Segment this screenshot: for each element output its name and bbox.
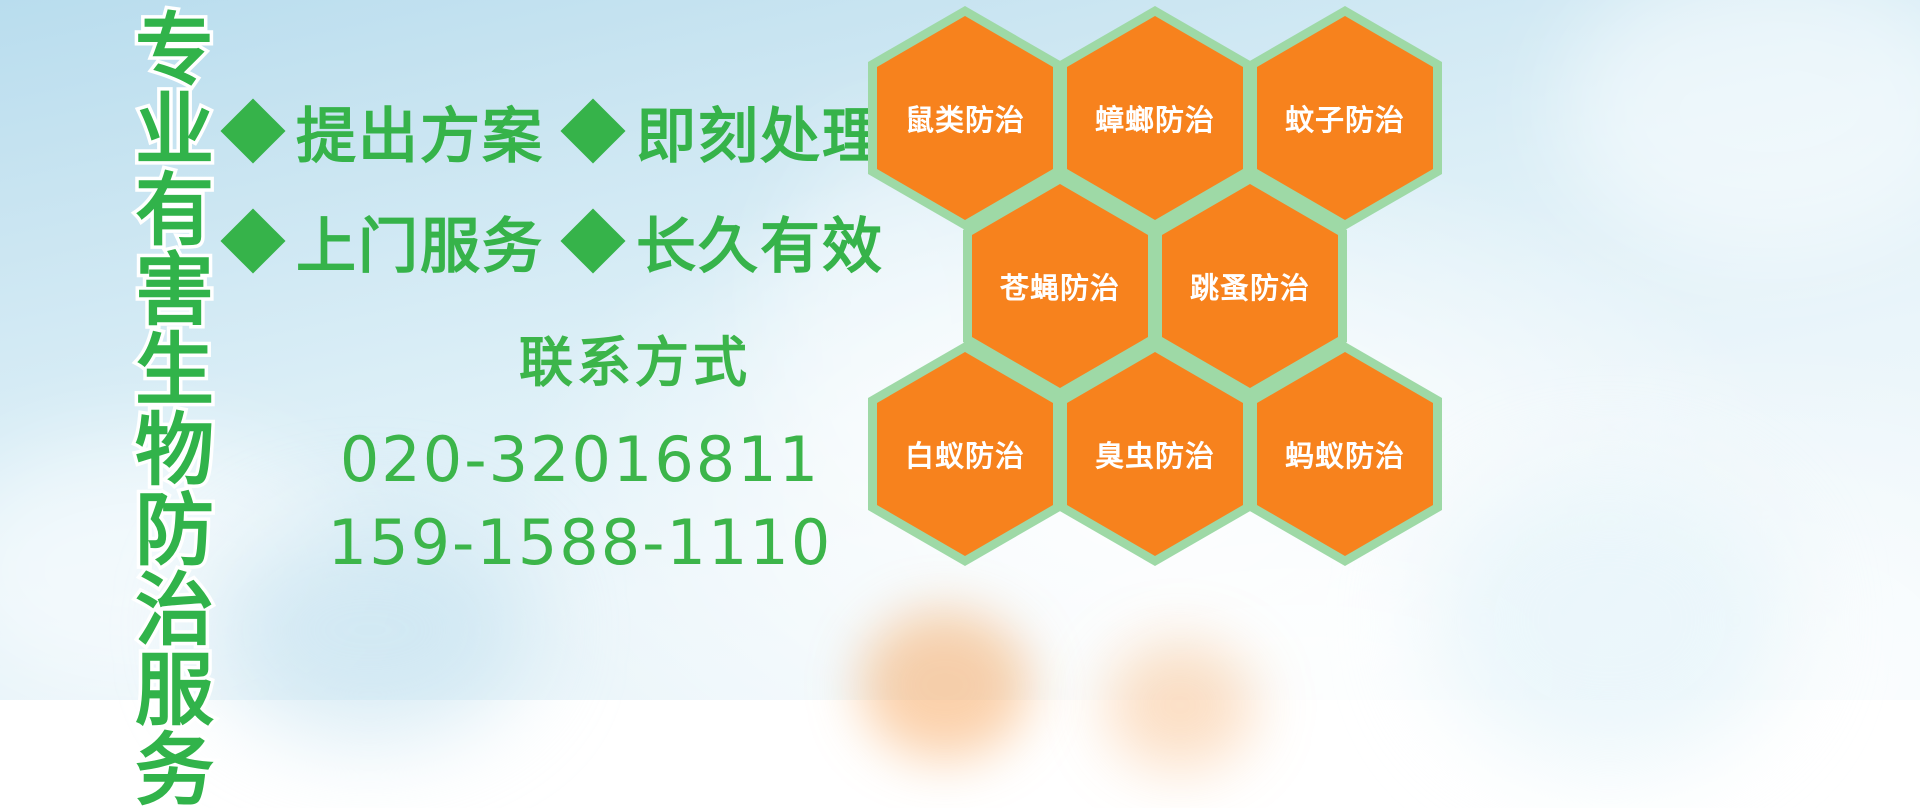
- feature-label-long-lasting: 长久有效: [636, 198, 884, 285]
- background-orange-glow: [860, 610, 1030, 760]
- service-label: 跳蚤防治: [1190, 265, 1310, 307]
- diamond-icon: [560, 208, 625, 273]
- service-label: 蚂蚁防治: [1285, 433, 1405, 475]
- phone-landline[interactable]: 020-32016811: [320, 423, 840, 496]
- pest-control-banner: 专业有害生物防治服务 提出方案 即刻处理 上门服务 长久有效 联系方式 020-…: [0, 0, 1920, 700]
- service-hexagon-grid: 鼠类防治 蟑螂防治 蚊子防治 苍蝇防治 跳蚤防治 白蚁防治 臭虫防治 蚂蚁防治: [862, 0, 1462, 560]
- background-blur-blob: [1560, 0, 1920, 260]
- feature-label-immediate-handling: 即刻处理: [636, 88, 884, 175]
- diamond-icon: [220, 98, 285, 163]
- feature-list: 提出方案 即刻处理 上门服务 长久有效: [230, 76, 870, 296]
- service-label: 蚊子防治: [1285, 97, 1405, 139]
- phone-mobile[interactable]: 159-1588-1110: [320, 506, 840, 579]
- service-label: 白蚁防治: [905, 433, 1025, 475]
- vertical-headline: 专业有害生物防治服务: [103, 8, 207, 808]
- diamond-icon: [560, 98, 625, 163]
- service-label: 蟑螂防治: [1095, 97, 1215, 139]
- feature-row-top: 提出方案 即刻处理: [230, 76, 870, 186]
- background-blur-blob: [1430, 470, 1790, 770]
- background-orange-glow: [1105, 640, 1255, 770]
- contact-title: 联系方式: [430, 318, 840, 397]
- feature-label-onsite-service: 上门服务: [296, 198, 544, 285]
- feature-label-propose-plan: 提出方案: [296, 88, 544, 175]
- diamond-icon: [220, 208, 285, 273]
- service-label: 苍蝇防治: [1000, 265, 1120, 307]
- service-label: 臭虫防治: [1095, 433, 1215, 475]
- feature-row-bottom: 上门服务 长久有效: [230, 186, 870, 296]
- contact-block: 联系方式 020-32016811 159-1588-1110: [280, 318, 840, 579]
- service-label: 鼠类防治: [905, 97, 1025, 139]
- background-blur-blob: [1040, 560, 1560, 790]
